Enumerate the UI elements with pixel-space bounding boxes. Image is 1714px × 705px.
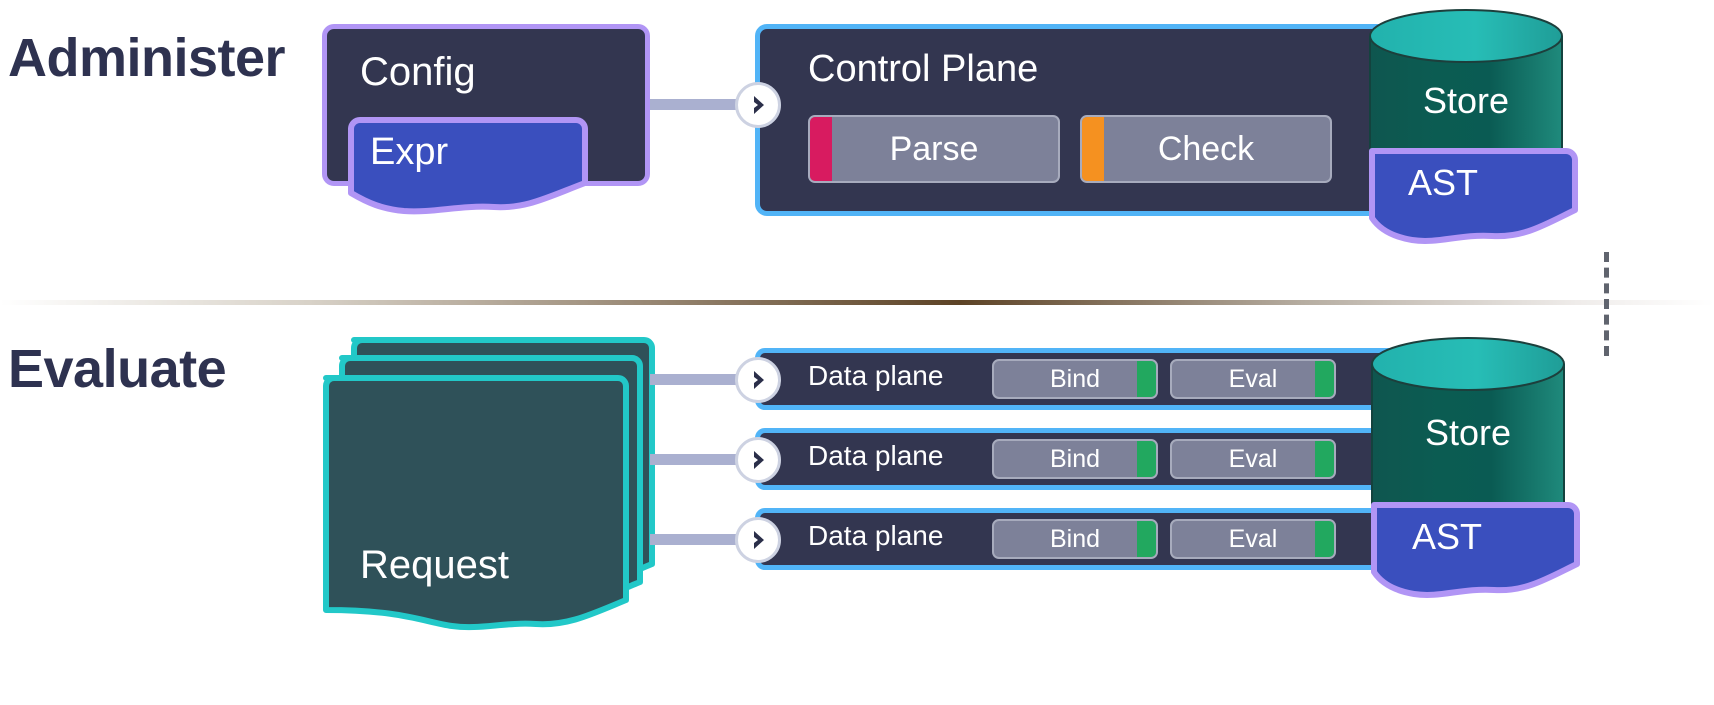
expr-label: Expr: [370, 131, 448, 174]
ast-label-evaluate: AST: [1412, 516, 1482, 558]
row-label-evaluate: Evaluate: [8, 338, 226, 400]
stage-button-bind-2-label: Bind: [1050, 445, 1100, 474]
stage-button-bind-1[interactable]: Bind: [992, 359, 1158, 399]
config-title: Config: [360, 50, 476, 95]
section-divider: [0, 300, 1714, 305]
ast-document-evaluate[interactable]: AST: [1370, 502, 1580, 610]
stage-button-eval-2-label: Eval: [1229, 445, 1278, 474]
stage-accent-parse: [810, 117, 832, 181]
request-label: Request: [360, 543, 509, 588]
stage-accent-check: [1082, 117, 1104, 181]
store-label-evaluate: Store: [1370, 412, 1566, 454]
expr-document[interactable]: Expr: [348, 117, 588, 217]
stage-button-bind-3[interactable]: Bind: [992, 519, 1158, 559]
stage-button-parse[interactable]: Parse: [808, 115, 1060, 183]
stage-accent-bind-3: [1137, 521, 1156, 557]
data-plane-title-3: Data plane: [808, 520, 943, 552]
store-label-administer: Store: [1368, 80, 1564, 122]
control-plane-title: Control Plane: [808, 48, 1038, 91]
stage-accent-eval-3: [1315, 521, 1334, 557]
connector-chevron-right-icon-1: [735, 357, 781, 403]
stage-accent-eval-1: [1315, 361, 1334, 397]
stage-accent-bind-1: [1137, 361, 1156, 397]
row-label-administer: Administer: [8, 27, 285, 89]
ast-sync-dashed-link: [1604, 252, 1609, 356]
stage-button-bind-1-label: Bind: [1050, 365, 1100, 394]
stage-button-eval-1[interactable]: Eval: [1170, 359, 1336, 399]
diagram-canvas: Administer Evaluate Config Expr Control …: [0, 0, 1714, 705]
stage-button-check[interactable]: Check: [1080, 115, 1332, 183]
stage-accent-bind-2: [1137, 441, 1156, 477]
stage-button-parse-label: Parse: [890, 130, 979, 169]
stage-button-eval-1-label: Eval: [1229, 365, 1278, 394]
stage-button-bind-3-label: Bind: [1050, 525, 1100, 554]
stage-button-bind-2[interactable]: Bind: [992, 439, 1158, 479]
ast-document-administer[interactable]: AST: [1368, 148, 1578, 256]
connector-chevron-right-icon-2: [735, 437, 781, 483]
ast-label-administer: AST: [1408, 162, 1478, 204]
stage-button-eval-3-label: Eval: [1229, 525, 1278, 554]
data-plane-title-2: Data plane: [808, 440, 943, 472]
stage-button-eval-3[interactable]: Eval: [1170, 519, 1336, 559]
connector-chevron-right-icon-administer: [735, 82, 781, 128]
data-plane-title-1: Data plane: [808, 360, 943, 392]
stage-button-check-label: Check: [1158, 130, 1254, 169]
stage-accent-eval-2: [1315, 441, 1334, 477]
connector-chevron-right-icon-3: [735, 517, 781, 563]
stage-button-eval-2[interactable]: Eval: [1170, 439, 1336, 479]
store-cylinder-evaluate[interactable]: Store: [1370, 334, 1566, 510]
